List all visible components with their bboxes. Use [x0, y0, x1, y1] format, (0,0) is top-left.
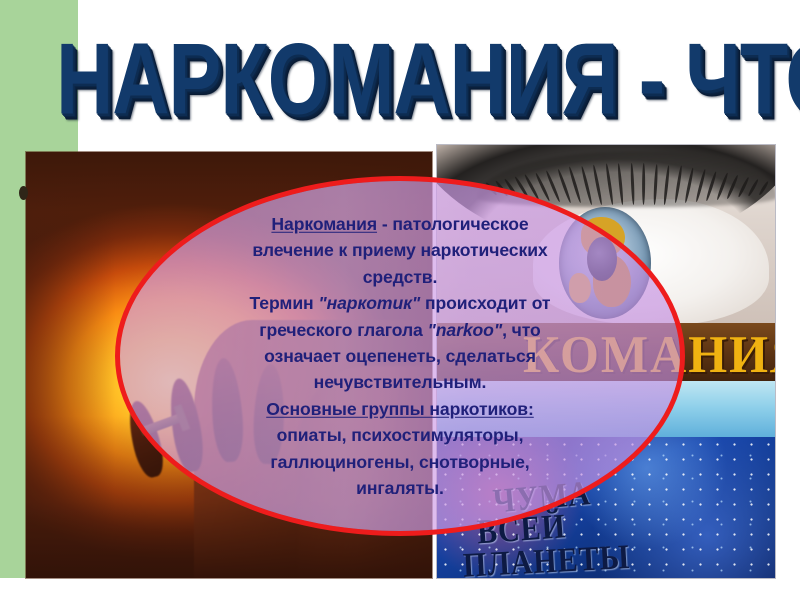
origin-paragraph-2: греческого глагола "narkoo", что: [200, 316, 600, 342]
groups-heading-text: Основные группы наркотиков:: [266, 399, 534, 419]
photo-corner-artifact: [19, 186, 28, 200]
origin-paragraph-1: Термин "наркотик" происходит от: [200, 290, 600, 316]
definition-paragraph-3: средств.: [200, 264, 600, 290]
groups-line-2: галлюциногены, снотворные,: [200, 448, 600, 474]
definition-line1-rest: патологическое: [392, 214, 528, 234]
page-title: НАРКОМАНИЯ - ЧТО ЭТО?: [56, 18, 748, 141]
slide-title-area: НАРКОМАНИЯ - ЧТО ЭТО?: [0, 18, 800, 138]
definition-callout-ellipse: Наркомания - патологическое влечение к п…: [115, 176, 685, 536]
origin-line2-suffix: , что: [502, 319, 541, 339]
origin-paragraph-4: нечувствительным.: [200, 369, 600, 395]
origin-mid: происходит от: [420, 293, 550, 313]
term-naркомания: Наркомания: [271, 214, 377, 234]
origin-paragraph-3: означает оцепенеть, сделаться: [200, 343, 600, 369]
definition-dash: -: [377, 214, 392, 234]
groups-line-3: ингаляты.: [200, 475, 600, 501]
definition-paragraph-1: Наркомания - патологическое: [200, 211, 600, 237]
groups-heading: Основные группы наркотиков:: [200, 396, 600, 422]
definition-text-block: Наркомания - патологическое влечение к п…: [200, 211, 600, 501]
myshared-watermark: www.MyShared: [469, 577, 657, 578]
definition-paragraph-2: влечение к приему наркотических: [200, 237, 600, 263]
origin-word-russian: "наркотик": [318, 293, 420, 313]
origin-prefix: Термин: [250, 293, 319, 313]
origin-word-greek: "narkoo": [428, 319, 503, 339]
groups-line-1: опиаты, психостимуляторы,: [200, 422, 600, 448]
origin-line2-prefix: греческого глагола: [259, 319, 427, 339]
slide-canvas: КОМАНИЯ ЧУМА ВСЕЙ ПЛАНЕТЫ www.MyShared Н…: [0, 0, 800, 600]
